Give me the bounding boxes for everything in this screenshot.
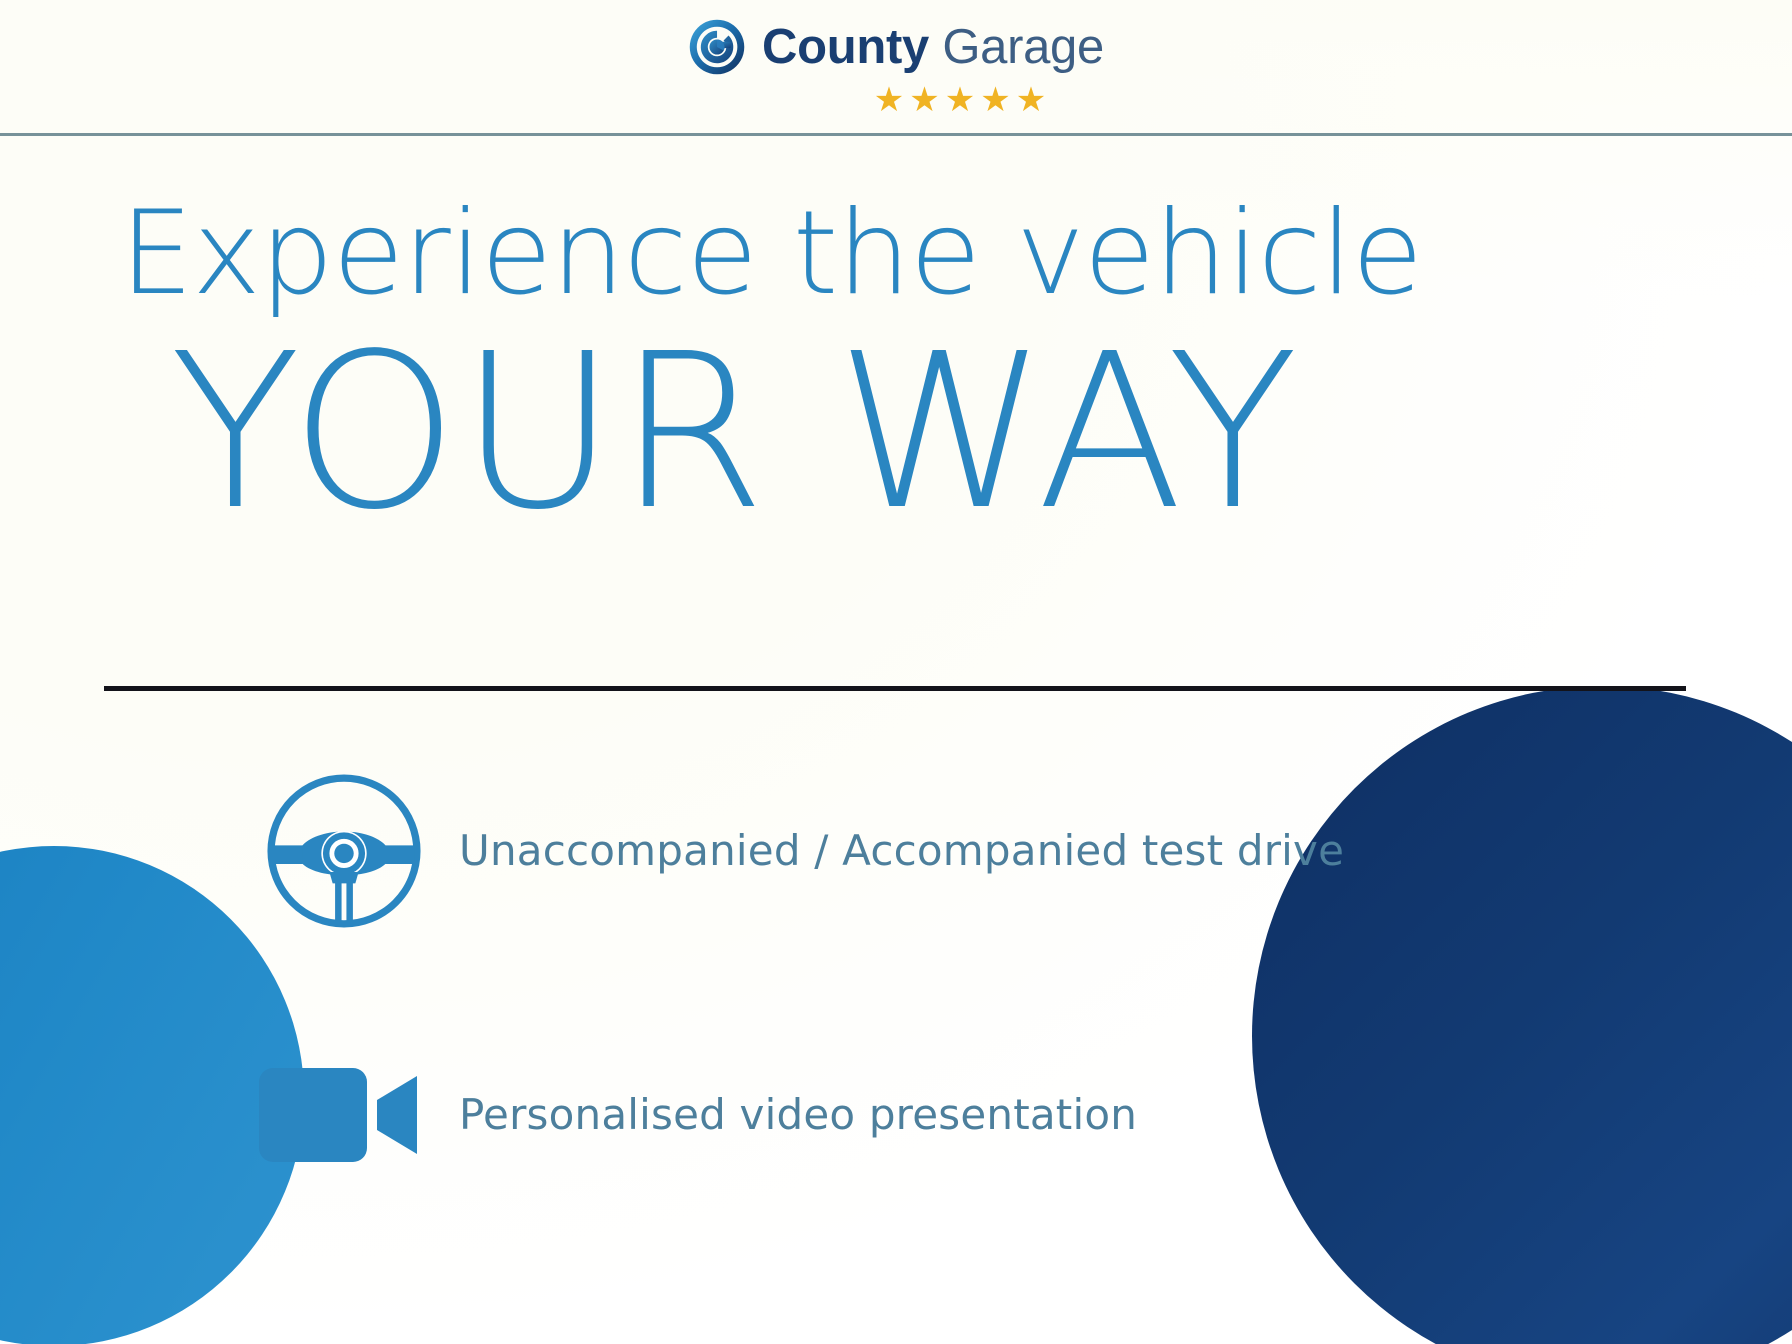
star-icon-4: ★: [980, 83, 1010, 117]
headline-line-1: Experience the vehicle: [0, 196, 1792, 312]
feature-label-test-drive: Unaccompanied / Accompanied test drive: [459, 828, 1344, 874]
logo-lockup: County Garage ★ ★ ★ ★ ★: [688, 18, 1104, 117]
logo-word-garage: Garage: [942, 20, 1104, 74]
star-rating: ★ ★ ★ ★ ★: [874, 83, 1046, 117]
logo-wordmark: County Garage: [762, 23, 1104, 72]
star-icon-2: ★: [909, 83, 939, 117]
feature-icon-slot: [175, 1060, 459, 1170]
headline-block: Experience the vehicle YOUR WAY: [0, 196, 1792, 540]
feature-item-test-drive: Unaccompanied / Accompanied test drive: [0, 770, 1792, 932]
star-icon-1: ★: [874, 83, 904, 117]
video-camera-icon: [257, 1060, 425, 1170]
logo-row: County Garage: [688, 18, 1104, 76]
header-divider-rule: [0, 133, 1792, 136]
county-garage-circle-mark-icon: [688, 18, 746, 76]
star-icon-5: ★: [1016, 83, 1046, 117]
star-icon-3: ★: [945, 83, 975, 117]
section-divider: [104, 686, 1686, 691]
feature-label-video: Personalised video presentation: [459, 1092, 1137, 1138]
steering-wheel-icon: [263, 770, 425, 932]
promo-banner: County Garage ★ ★ ★ ★ ★ Experience the v…: [0, 0, 1792, 1344]
feature-list: Unaccompanied / Accompanied test drive P…: [0, 770, 1792, 1170]
logo-word-county: County: [762, 20, 929, 74]
feature-item-video: Personalised video presentation: [0, 1060, 1792, 1170]
headline-line-2: YOUR WAY: [0, 326, 1792, 540]
feature-icon-slot: [175, 770, 459, 932]
brand-header: County Garage ★ ★ ★ ★ ★: [0, 0, 1792, 136]
